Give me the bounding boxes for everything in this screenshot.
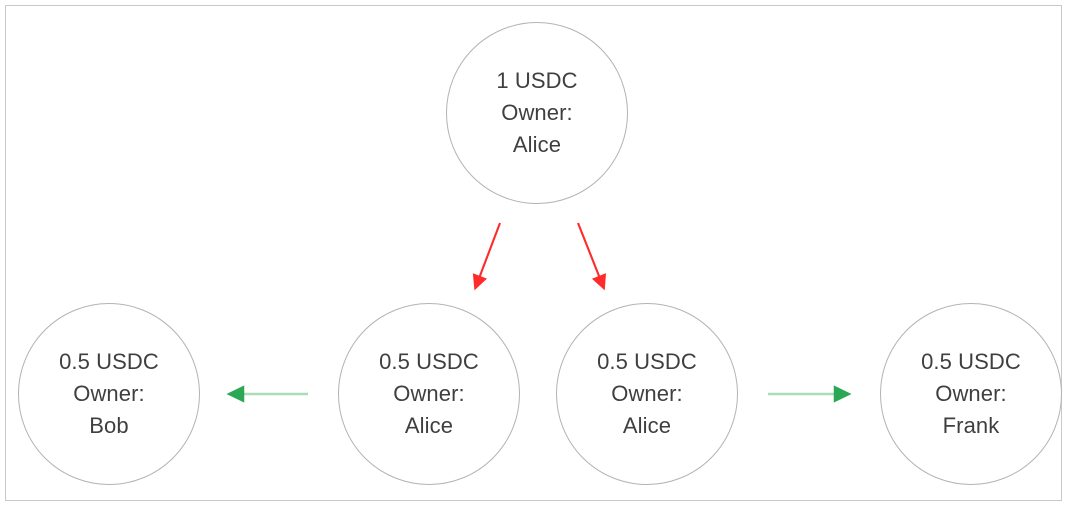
diagram-canvas: 1 USDC Owner: Alice 0.5 USDC Owner: Bob … (0, 0, 1078, 512)
node-frank-note[interactable]: 0.5 USDC Owner: Frank (880, 303, 1062, 485)
node-owner: Bob (89, 410, 128, 442)
node-amount: 1 USDC (496, 65, 577, 97)
node-bob-note[interactable]: 0.5 USDC Owner: Bob (18, 303, 200, 485)
node-split-note-right[interactable]: 0.5 USDC Owner: Alice (556, 303, 738, 485)
node-owner-label: Owner: (935, 378, 1007, 410)
node-amount: 0.5 USDC (379, 346, 479, 378)
node-owner: Alice (513, 129, 561, 161)
node-owner-label: Owner: (611, 378, 683, 410)
node-amount: 0.5 USDC (597, 346, 697, 378)
node-owner-label: Owner: (393, 378, 465, 410)
node-owner: Alice (623, 410, 671, 442)
node-split-note-left[interactable]: 0.5 USDC Owner: Alice (338, 303, 520, 485)
node-owner-label: Owner: (73, 378, 145, 410)
node-source-note[interactable]: 1 USDC Owner: Alice (446, 22, 628, 204)
node-amount: 0.5 USDC (921, 346, 1021, 378)
node-amount: 0.5 USDC (59, 346, 159, 378)
node-owner-label: Owner: (501, 97, 573, 129)
node-owner: Alice (405, 410, 453, 442)
node-owner: Frank (943, 410, 1000, 442)
